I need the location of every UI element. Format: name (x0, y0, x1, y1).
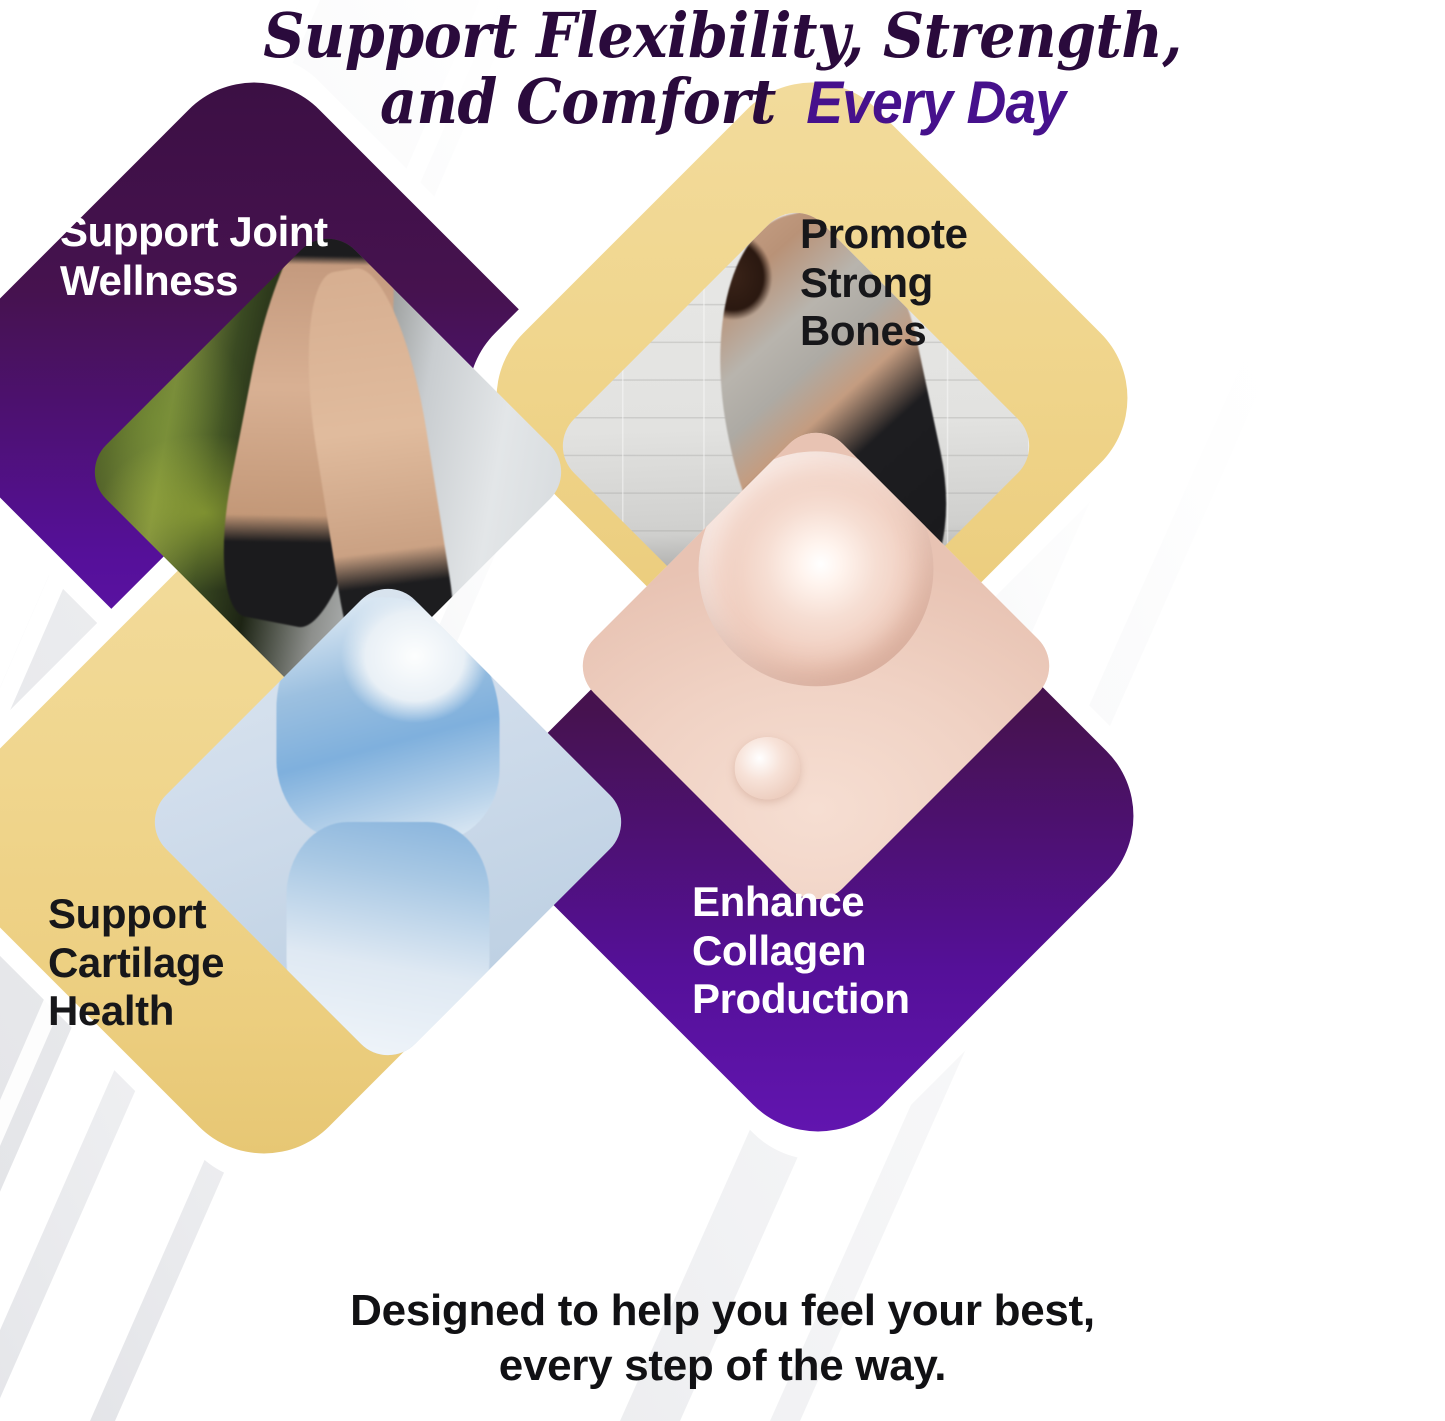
headline-line-1: Support Flexibility, Strength, (58, 4, 1387, 68)
headline-line-2: and Comfort Every Day (58, 70, 1387, 134)
card-label-enhance-collagen-production: Enhance Collagen Production (692, 878, 1052, 1024)
footer-line-2: every step of the way. (0, 1338, 1445, 1393)
headline-emphasis: Every Day (806, 69, 1065, 136)
card-label-promote-strong-bones: Promote Strong Bones (800, 210, 1100, 356)
headline-line-2-prefix: and Comfort (380, 65, 795, 138)
card-label-support-joint-wellness: Support Joint Wellness (60, 208, 420, 305)
card-label-support-cartilage-health: Support Cartilage Health (48, 890, 368, 1036)
headline: Support Flexibility, Strength, and Comfo… (0, 4, 1445, 134)
footer-tagline: Designed to help you feel your best, eve… (0, 1283, 1445, 1394)
benefit-card-grid: Support Joint Wellness Promote Strong Bo… (0, 150, 1445, 1280)
footer-line-1: Designed to help you feel your best, (0, 1283, 1445, 1338)
